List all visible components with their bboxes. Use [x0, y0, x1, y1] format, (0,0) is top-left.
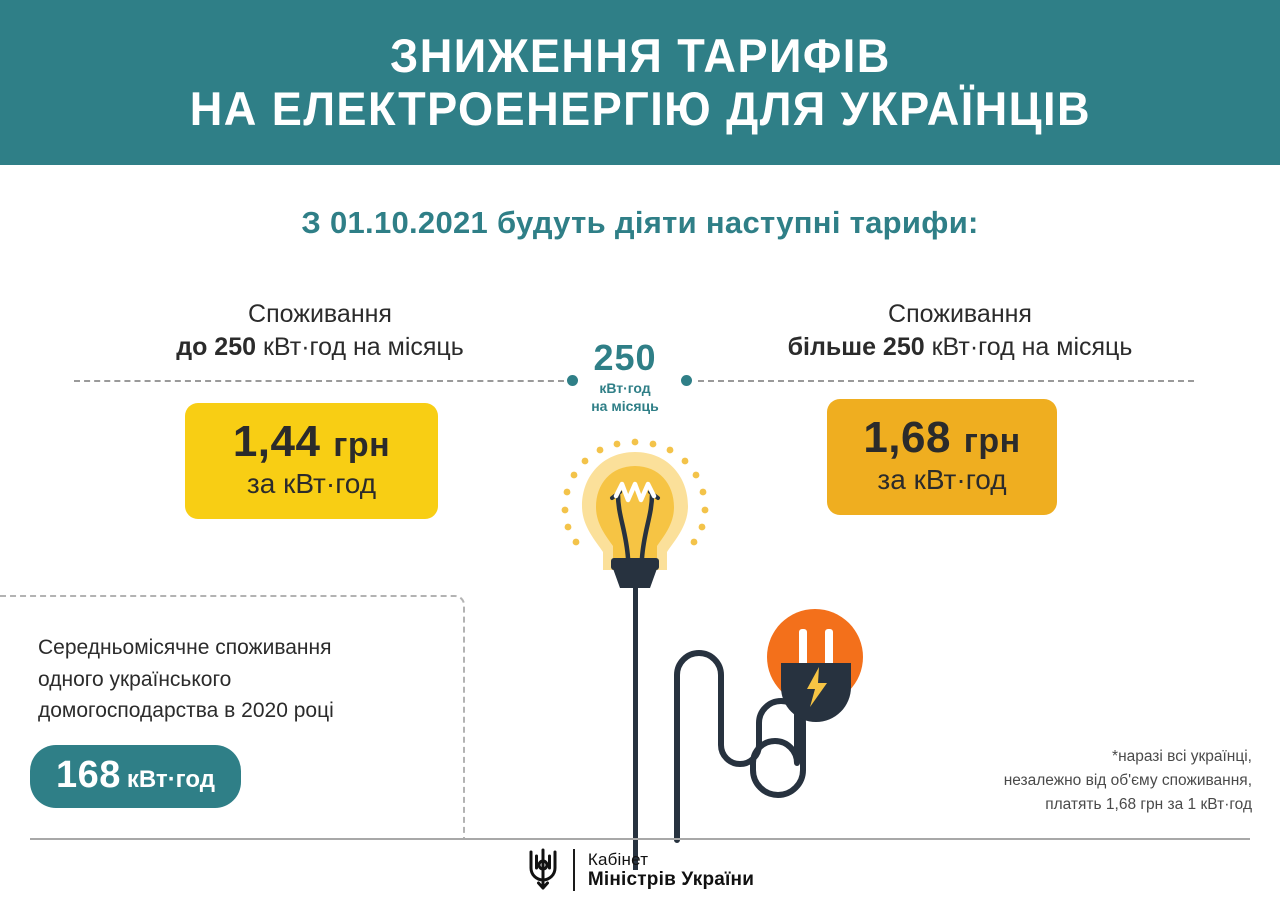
price-left-per: за кВт·год [185, 467, 438, 501]
tier-left-heading: Споживання до 250 кВт·год на місяць [60, 298, 580, 363]
footnote-line3: платять 1,68 грн за 1 кВт·год [1045, 796, 1252, 813]
tier-right-heading-line1: Споживання [888, 300, 1032, 328]
threshold-value: 250 [560, 340, 690, 376]
household-description-line2: одного українського [38, 668, 231, 691]
logo-text: Кабінет Міністрів України [588, 850, 754, 890]
infographic-page: ЗНИЖЕННЯ ТАРИФІВ НА ЕЛЕКТРОЕНЕРГІЮ ДЛЯ У… [0, 0, 1280, 906]
trident-emblem-icon [526, 848, 560, 892]
household-description-line1: Середньомісячне споживання [38, 636, 332, 659]
divider-dashed-left [74, 380, 564, 382]
tier-right-heading-rest: кВт·год на місяць [925, 333, 1133, 361]
tier-left-heading-bold: до 250 [176, 333, 256, 361]
price-left-currency: грн [333, 426, 390, 464]
page-title-line2: НА ЕЛЕКТРОЕНЕРГІЮ ДЛЯ УКРАЇНЦІВ [189, 83, 1090, 136]
footer-logo: Кабінет Міністрів України [0, 848, 1280, 892]
price-right-value: 1,68 [863, 413, 951, 462]
household-description: Середньомісячне споживання одного україн… [38, 632, 438, 727]
price-right-currency: грн [964, 422, 1021, 460]
household-unit: кВт·год [127, 766, 215, 793]
bulb-cord-vertical [633, 575, 638, 870]
household-description-line3: домогосподарства в 2020 році [38, 699, 334, 722]
threshold-marker: 250 кВт·год на місяць [560, 340, 690, 415]
price-left-amount: 1,44 грн [185, 419, 438, 465]
divider-dashed-right [698, 380, 1194, 382]
tier-right-heading: Споживання більше 250 кВт·год на місяць [700, 298, 1220, 363]
header-banner: ЗНИЖЕННЯ ТАРИФІВ НА ЕЛЕКТРОЕНЕРГІЮ ДЛЯ У… [0, 0, 1280, 165]
footer-divider [30, 838, 1250, 840]
tier-right-heading-bold: більше 250 [788, 333, 925, 361]
page-title-line1: ЗНИЖЕННЯ ТАРИФІВ [189, 30, 1090, 83]
logo-text-line1: Кабінет [588, 850, 754, 869]
subtitle: З 01.10.2021 будуть діяти наступні тариф… [0, 205, 1280, 241]
price-right-amount: 1,68 грн [827, 415, 1057, 461]
price-card-right: 1,68 грн за кВт·год [827, 399, 1057, 515]
tier-left-heading-rest: кВт·год на місяць [256, 333, 464, 361]
logo-text-line2: Міністрів України [588, 869, 754, 890]
page-title: ЗНИЖЕННЯ ТАРИФІВ НА ЕЛЕКТРОЕНЕРГІЮ ДЛЯ У… [189, 30, 1090, 135]
footnote-line1: *наразі всі українці, [1112, 748, 1252, 765]
threshold-unit: кВт·год [560, 380, 690, 398]
footnote: *наразі всі українці, незалежно від об'є… [912, 745, 1252, 817]
footnote-line2: незалежно від об'єму споживання, [1004, 772, 1252, 789]
household-consumption-card: Середньомісячне споживання одного україн… [0, 595, 465, 840]
plug-illustration [655, 595, 905, 845]
logo-divider [573, 849, 575, 891]
lightbulb-icon [540, 430, 730, 595]
price-card-left: 1,44 грн за кВт·год [185, 403, 438, 519]
household-value: 168 [56, 754, 121, 796]
power-plug-icon [655, 595, 905, 845]
threshold-period: на місяць [560, 398, 690, 416]
tier-left-heading-line1: Споживання [248, 300, 392, 328]
household-value-badge: 168кВт·год [30, 745, 241, 808]
price-left-value: 1,44 [233, 417, 321, 466]
price-right-per: за кВт·год [827, 463, 1057, 497]
